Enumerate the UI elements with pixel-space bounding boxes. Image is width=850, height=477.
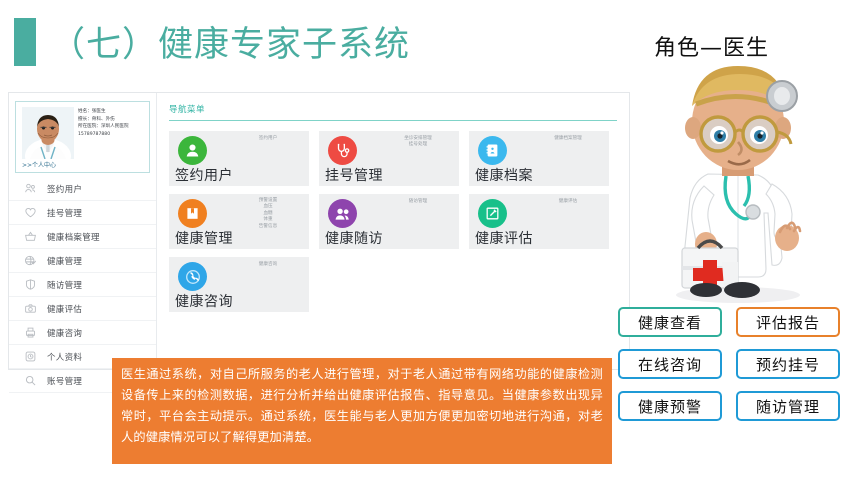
clock-icon: [19, 349, 41, 365]
sidebar-item-signed-users[interactable]: 签约用户: [9, 177, 156, 201]
sidebar-item-label: 健康咨询: [47, 327, 82, 339]
people-icon: [328, 199, 357, 228]
button-health-alert[interactable]: 健康预警: [618, 391, 722, 421]
button-appointment[interactable]: 预约挂号: [736, 349, 840, 379]
card-registration[interactable]: 坐诊安排管理 挂号处理 挂号管理: [319, 131, 459, 186]
card-signed-users[interactable]: 签约用户 签约用户: [169, 131, 309, 186]
personal-center-link[interactable]: >>个人中心: [22, 160, 56, 169]
printer-icon: [19, 325, 41, 341]
slide-title: （七）健康专家子系统: [14, 16, 410, 67]
sidebar-item-label: 个人资料: [47, 351, 82, 363]
sidebar-item-label: 健康评估: [47, 303, 82, 315]
phone-icon: [178, 262, 207, 291]
card-health-assessment[interactable]: 健康评估 健康评估: [469, 194, 609, 249]
button-followup-management[interactable]: 随访管理: [736, 391, 840, 421]
card-subtitle: 随访管理: [384, 199, 452, 205]
app-window: 姓名：张医生 擅长：骨科、外伤 所在医院：深圳人民医院 15789787880 …: [8, 92, 630, 370]
sidebar-item-label: 健康管理: [47, 255, 82, 267]
title-text: （七）健康专家子系统: [50, 16, 410, 67]
sidebar-item-label: 账号管理: [47, 375, 82, 387]
button-online-consult[interactable]: 在线咨询: [618, 349, 722, 379]
sidebar-item-health-consult[interactable]: 健康咨询: [9, 321, 156, 345]
card-health-records[interactable]: 健康档案管理 健康档案: [469, 131, 609, 186]
users-icon: [19, 181, 41, 197]
heart-icon: [19, 205, 41, 221]
checklist-icon: [19, 253, 41, 269]
sidebar: 姓名：张医生 擅长：骨科、外伤 所在医院：深圳人民医院 15789787880 …: [9, 93, 157, 369]
sidebar-item-registration[interactable]: 挂号管理: [9, 201, 156, 225]
card-health-followup[interactable]: 随访管理 健康随访: [319, 194, 459, 249]
card-subtitle: 签约用户: [234, 136, 302, 142]
sidebar-item-health-assessment[interactable]: 健康评估: [9, 297, 156, 321]
edit-icon: [478, 199, 507, 228]
profile-specialty: 擅长：骨科、外伤: [78, 116, 146, 124]
profile-name: 姓名：张医生: [78, 108, 146, 116]
stethoscope-icon: [328, 136, 357, 165]
card-subtitle: 坐诊安排管理 挂号处理: [384, 136, 452, 149]
avatar: [22, 107, 74, 159]
sidebar-item-followup[interactable]: 随访管理: [9, 273, 156, 297]
basket-icon: [19, 229, 41, 245]
card-title: 健康评估: [475, 228, 533, 248]
card-title: 挂号管理: [325, 165, 383, 185]
book-icon: [178, 199, 207, 228]
main-content: 导航菜单 签约用户 签约用户: [157, 93, 629, 369]
card-subtitle: 健康档案管理: [534, 136, 602, 142]
card-subtitle: 健康咨询: [234, 262, 302, 268]
role-title: 角色—医生: [654, 30, 769, 62]
card-health-management[interactable]: 预警设置 血压 血糖 体重 告警信息 健康管理: [169, 194, 309, 249]
module-card-grid: 签约用户 签约用户 坐诊安排管理: [169, 131, 617, 312]
profile-card[interactable]: 姓名：张医生 擅长：骨科、外伤 所在医院：深圳人民医院 15789787880 …: [15, 101, 150, 173]
camera-icon: [19, 301, 41, 317]
description-text: 医生通过系统，对自己所服务的老人进行管理，对于老人通过带有网络功能的健康检测设备…: [121, 364, 603, 448]
card-subtitle: 健康评估: [534, 199, 602, 205]
doctor-illustration: [630, 62, 850, 312]
search-icon: [19, 373, 41, 389]
profile-hospital: 所在医院：深圳人民医院: [78, 123, 146, 131]
card-title: 健康咨询: [175, 291, 233, 311]
slide-root: （七）健康专家子系统 角色—医生: [0, 0, 850, 477]
shield-icon: [19, 277, 41, 293]
card-title: 签约用户: [175, 165, 233, 185]
sidebar-item-label: 签约用户: [47, 183, 82, 195]
card-subtitle: 预警设置 血压 血糖 体重 告警信息: [234, 198, 302, 230]
card-health-consult[interactable]: 健康咨询 健康咨询: [169, 257, 309, 312]
sidebar-item-label: 随访管理: [47, 279, 82, 291]
nav-menu-header: 导航菜单: [169, 103, 617, 121]
description-box: 医生通过系统，对自己所服务的老人进行管理，对于老人通过带有网络功能的健康检测设备…: [112, 358, 612, 464]
sidebar-item-health-management[interactable]: 健康管理: [9, 249, 156, 273]
card-title: 健康档案: [475, 165, 533, 185]
sidebar-item-health-records[interactable]: 健康档案管理: [9, 225, 156, 249]
sidebar-item-label: 健康档案管理: [47, 231, 100, 243]
person-icon: [178, 136, 207, 165]
feature-button-grid: 健康查看 评估报告 在线咨询 预约挂号 健康预警 随访管理: [618, 307, 846, 421]
sidebar-item-label: 挂号管理: [47, 207, 82, 219]
card-title: 健康随访: [325, 228, 383, 248]
title-accent-bar: [14, 18, 36, 66]
profile-phone: 15789787880: [78, 131, 146, 139]
profile-info: 姓名：张医生 擅长：骨科、外伤 所在医院：深圳人民医院 15789787880: [78, 108, 146, 138]
contact-book-icon: [478, 136, 507, 165]
card-title: 健康管理: [175, 228, 233, 248]
